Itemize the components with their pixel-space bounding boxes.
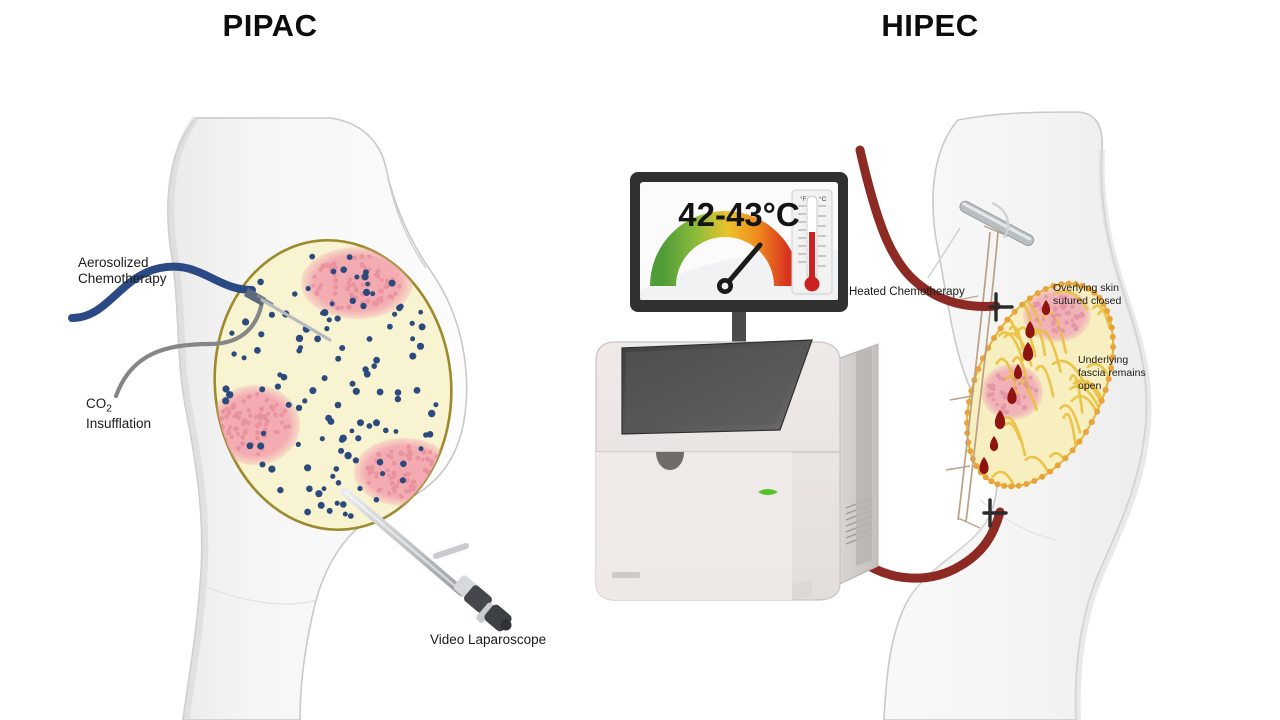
label-co2-subscript: 2 [106, 404, 112, 415]
temperature-readout: 42-43°C [678, 196, 799, 233]
figure-canvas: PIPAC HIPEC [0, 0, 1280, 720]
video-laparoscope [345, 492, 514, 633]
temperature-monitor: °F °C 42-43°C [630, 172, 848, 366]
label-co2-insufflation: CO2 Insufflation [86, 396, 151, 433]
label-underlying-fascia-remains-open: Underlying fascia remains open [1078, 354, 1146, 392]
label-heated-chemotherapy: Heated Chemotherapy [849, 285, 965, 299]
label-aerosolized-chemotherapy: Aerosolized Chemotherapy [78, 255, 167, 288]
label-co2-text: CO [86, 396, 106, 411]
pipac-illustration [0, 0, 640, 720]
label-co2-line2: Insufflation [86, 416, 151, 431]
hipec-illustration: °F °C 42-43°C [560, 0, 1280, 720]
thermometer-celsius-label: °C [819, 195, 827, 203]
label-overlying-skin-sutured-closed: Overlying skin sutured closed [1053, 282, 1121, 308]
thermometer-fahrenheit-label: °F [800, 195, 807, 203]
perfusion-machine [596, 340, 878, 600]
label-video-laparoscope: Video Laparoscope [430, 632, 546, 648]
